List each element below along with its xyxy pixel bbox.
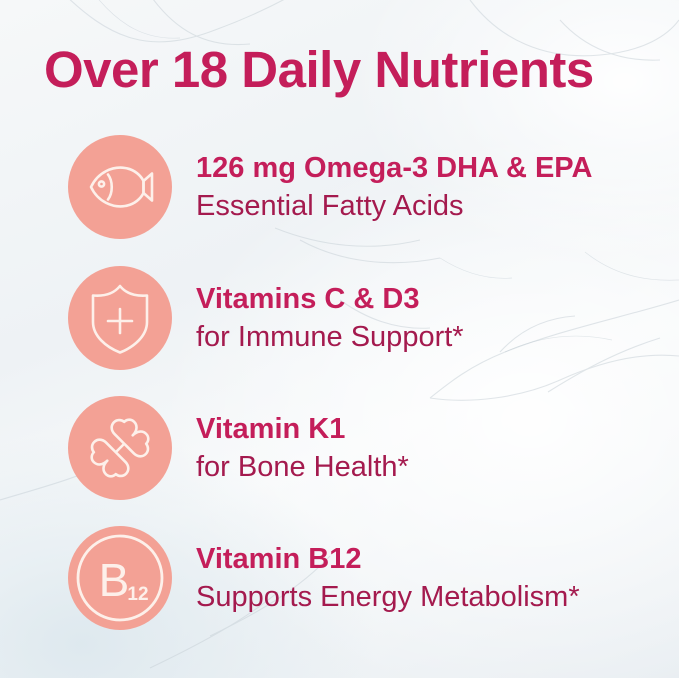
list-item-primary-text: Vitamin B12 xyxy=(196,540,580,578)
list-item-primary-text: Vitamin K1 xyxy=(196,410,409,448)
shield-plus-icon-badge xyxy=(68,266,172,370)
list-item-secondary-text: Supports Energy Metabolism* xyxy=(196,578,580,616)
b12-badge-icon: B 12 xyxy=(74,532,166,624)
list-item-secondary-text: Essential Fatty Acids xyxy=(196,187,592,225)
list-item: Vitamins C & D3 for Immune Support* xyxy=(68,266,464,370)
bone-icon-badge xyxy=(68,396,172,500)
list-item-secondary-text: for Bone Health* xyxy=(196,448,409,486)
list-item-secondary-text: for Immune Support* xyxy=(196,318,464,356)
bone-icon xyxy=(82,410,158,486)
page-title: Over 18 Daily Nutrients xyxy=(44,40,594,99)
shield-plus-icon xyxy=(84,280,156,356)
fish-icon xyxy=(81,148,159,226)
b12-subscript: 12 xyxy=(127,584,148,605)
list-item-primary-text: Vitamins C & D3 xyxy=(196,280,464,318)
fish-icon-badge xyxy=(68,135,172,239)
list-item: B 12 Vitamin B12 Supports Energy Metabol… xyxy=(68,526,580,630)
list-item-text: Vitamins C & D3 for Immune Support* xyxy=(196,280,464,356)
nutrient-infographic: Over 18 Daily Nutrients 126 mg Omega-3 D… xyxy=(0,0,679,678)
list-item-text: Vitamin B12 Supports Energy Metabolism* xyxy=(196,540,580,616)
list-item: 126 mg Omega-3 DHA & EPA Essential Fatty… xyxy=(68,135,592,239)
b12-letter: B xyxy=(99,554,130,606)
list-item-text: Vitamin K1 for Bone Health* xyxy=(196,410,409,486)
b12-badge-icon-badge: B 12 xyxy=(68,526,172,630)
list-item: Vitamin K1 for Bone Health* xyxy=(68,396,409,500)
list-item-primary-text: 126 mg Omega-3 DHA & EPA xyxy=(196,149,592,187)
list-item-text: 126 mg Omega-3 DHA & EPA Essential Fatty… xyxy=(196,149,592,225)
